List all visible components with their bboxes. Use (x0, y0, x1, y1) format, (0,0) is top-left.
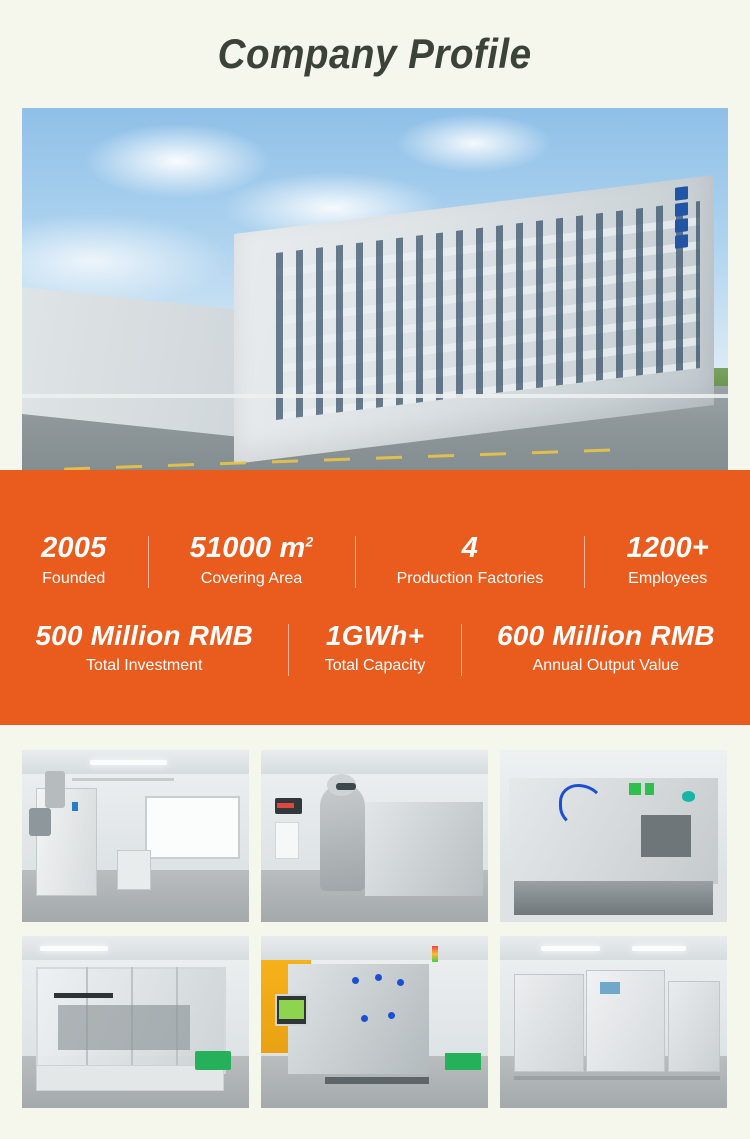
lab-ceiling (500, 936, 727, 960)
ceiling-lamp (541, 946, 600, 951)
green-component (629, 783, 640, 795)
stats-row-secondary: 500 Million RMB Total Investment 1GWh+ T… (0, 620, 750, 692)
stat-label: Production Factories (397, 569, 544, 588)
ceiling-lamp (40, 946, 108, 951)
machine-base (514, 881, 714, 915)
gallery-photo-2 (261, 750, 488, 922)
stat-value-text: 51000 m (190, 532, 306, 564)
control-display (275, 798, 302, 813)
stat-label: Founded (42, 569, 105, 588)
stat-value: 1GWh+ (326, 620, 424, 651)
green-parts-bin (195, 1051, 231, 1070)
stat-label: Employees (628, 569, 707, 588)
stat-label: Covering Area (201, 569, 302, 588)
hopper (45, 771, 65, 809)
coating-machine (365, 802, 483, 897)
valve-accent (72, 802, 78, 811)
factory-ceiling (261, 936, 488, 960)
stat-annual-output-value: 600 Million RMB Annual Output Value (462, 620, 750, 676)
curb-line (22, 394, 728, 398)
output-conveyor (325, 1077, 429, 1084)
gallery-photo-3 (500, 750, 727, 922)
stat-label: Annual Output Value (533, 656, 679, 675)
hero-building-photo (22, 108, 728, 505)
gallery-photo-4 (22, 936, 249, 1108)
stat-total-investment: 500 Million RMB Total Investment (0, 620, 288, 676)
page-title: Company Profile (218, 33, 532, 75)
cleanroom-ceiling (261, 750, 488, 774)
building-signage (673, 186, 689, 298)
gallery-photo-1 (22, 750, 249, 922)
stat-value-superscript: 2 (305, 533, 313, 549)
green-crate (445, 1053, 481, 1070)
overhead-pipe (72, 778, 174, 781)
chamber-base (514, 1076, 721, 1080)
safety-goggles (336, 783, 356, 790)
company-profile-page: Company Profile 2005 Founded 51000 m2 Co… (0, 0, 750, 1139)
equipment-cart (117, 850, 151, 890)
blue-roller (375, 974, 382, 981)
gallery-photo-6 (500, 936, 727, 1108)
blue-roller (361, 1015, 368, 1022)
wall-document (275, 822, 300, 858)
stat-value: 2005 (41, 532, 106, 564)
cable-chain (54, 993, 113, 998)
green-component (645, 783, 654, 795)
stats-row-primary: 2005 Founded 51000 m2 Covering Area 4 Pr… (0, 532, 750, 604)
gallery-photo-5 (261, 936, 488, 1108)
signal-tower-light (432, 946, 438, 962)
test-chamber (586, 970, 665, 1072)
hmi-touchscreen (275, 994, 309, 1026)
stat-value: 51000 m2 (190, 532, 314, 564)
stat-total-capacity: 1GWh+ Total Capacity (289, 620, 460, 676)
test-chamber (668, 981, 720, 1072)
stats-band: 2005 Founded 51000 m2 Covering Area 4 Pr… (0, 470, 750, 725)
motor-unit (29, 808, 52, 836)
page-title-container: Company Profile (0, 0, 750, 108)
stat-employees: 1200+ Employees (585, 532, 750, 589)
facility-photo-grid (22, 750, 728, 1108)
blue-roller (388, 1012, 395, 1019)
technician-body (320, 784, 365, 891)
assembly-mechanism (58, 1005, 190, 1050)
ceiling-lamp (90, 760, 167, 765)
stat-value: 1200+ (626, 532, 708, 564)
metal-plate (641, 815, 691, 856)
stat-production-factories: 4 Production Factories (356, 532, 585, 589)
stat-value: 4 (462, 532, 478, 564)
whiteboard (145, 796, 240, 858)
stat-label: Total Capacity (325, 656, 426, 675)
test-chamber (514, 974, 584, 1072)
stat-label: Total Investment (86, 656, 203, 675)
stat-value: 500 Million RMB (35, 620, 253, 651)
chamber-display (600, 982, 620, 994)
ceiling-lamp (632, 946, 686, 951)
stat-founded: 2005 Founded (0, 532, 148, 589)
stat-value: 600 Million RMB (497, 620, 715, 651)
teal-fitting (682, 791, 696, 801)
stat-covering-area: 51000 m2 Covering Area (149, 532, 355, 589)
